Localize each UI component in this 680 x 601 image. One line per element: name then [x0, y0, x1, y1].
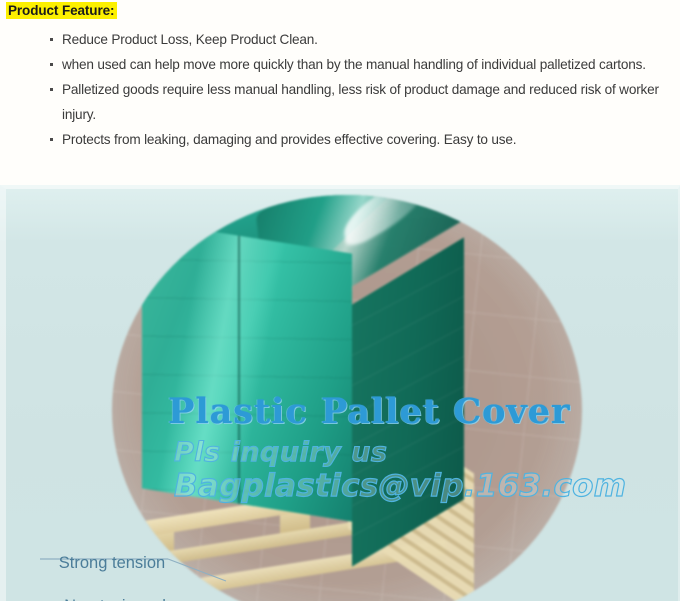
feature-bullet-list: Reduce Product Loss, Keep Product Clean.… [0, 28, 680, 153]
bullet-point-icon [50, 88, 53, 91]
photo-overlay-inquiry-text: Pls inquiry us [174, 437, 387, 468]
product-feature-section: Product Feature: Reduce Product Loss, Ke… [0, 0, 680, 185]
list-item-text: Reduce Product Loss, Keep Product Clean. [62, 32, 318, 47]
bullet-point-icon [50, 38, 53, 41]
bullet-point-icon [50, 63, 53, 66]
photo-overlay-title: Plastic Pallet Cover [168, 391, 570, 432]
product-photo: Plastic Pallet Cover Pls inquiry us Bagp… [0, 185, 680, 601]
list-item: Protects from leaking, damaging and prov… [0, 128, 680, 153]
list-item: Reduce Product Loss, Keep Product Clean. [0, 28, 680, 53]
bullet-point-icon [50, 138, 53, 141]
list-item: Palletized goods require less manual han… [0, 78, 680, 127]
list-item-text: Palletized goods require less manual han… [62, 82, 659, 122]
list-item-text: Protects from leaking, damaging and prov… [62, 132, 516, 147]
page-title: Product Feature: [6, 2, 117, 19]
callout-label: Non-toxic and odorless [64, 597, 166, 601]
list-item: when used can help move more quickly tha… [0, 53, 680, 78]
photo-overlay-email: Bagplastics@vip.163.com [174, 468, 626, 504]
callout-strong-tension: Strong tension [42, 535, 182, 573]
list-item-text: when used can help move more quickly tha… [62, 57, 646, 72]
callout-non-toxic-odorless: Non-toxic and odorless [40, 578, 190, 601]
callout-label: Strong tension [59, 554, 165, 572]
